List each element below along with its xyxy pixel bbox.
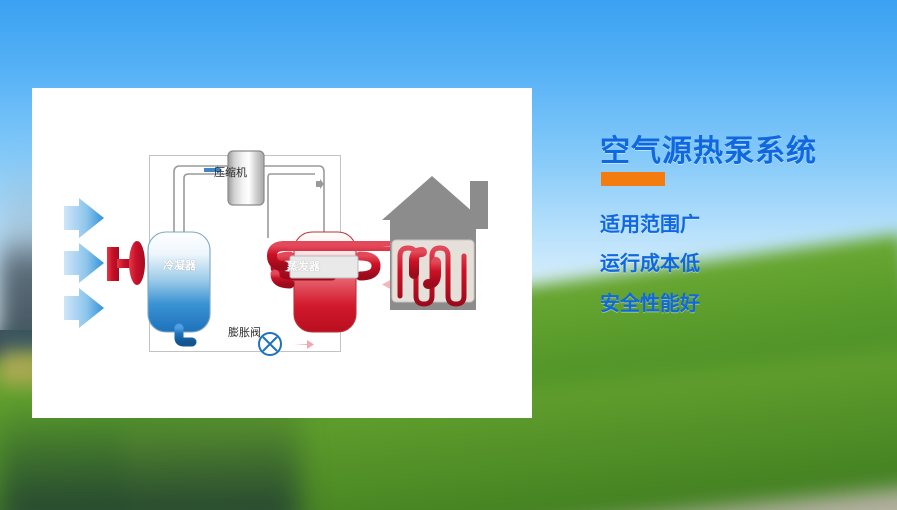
feature-item-1: 适用范围广 [600, 208, 700, 237]
condenser-tank [148, 232, 210, 332]
expansion-valve-icon [259, 333, 281, 355]
page-title: 空气源热泵系统 [600, 126, 817, 170]
slide-root: 压缩机 膨胀阀 冷凝器 蒸发器 空气源热泵系统 适用范围广 运行成本低 安全性能… [0, 0, 897, 510]
fan-icon [107, 241, 145, 285]
feature-item-3: 安全性能好 [600, 287, 700, 316]
label-expansion-valve: 膨胀阀 [228, 324, 261, 340]
feature-item-2: 运行成本低 [600, 247, 700, 276]
air-flow-arrow-1 [64, 198, 104, 238]
heat-pump-schematic [32, 88, 532, 418]
air-flow-arrow-2 [64, 243, 104, 283]
label-compressor: 压缩机 [214, 164, 247, 180]
label-evaporator: 蒸发器 [287, 258, 320, 274]
diagram-card: 压缩机 膨胀阀 冷凝器 蒸发器 [32, 88, 532, 418]
flow-arrow-top-right [316, 179, 324, 189]
air-flow-arrow-3 [64, 288, 104, 328]
title-accent-rule [601, 172, 665, 186]
label-condenser: 冷凝器 [163, 257, 196, 273]
